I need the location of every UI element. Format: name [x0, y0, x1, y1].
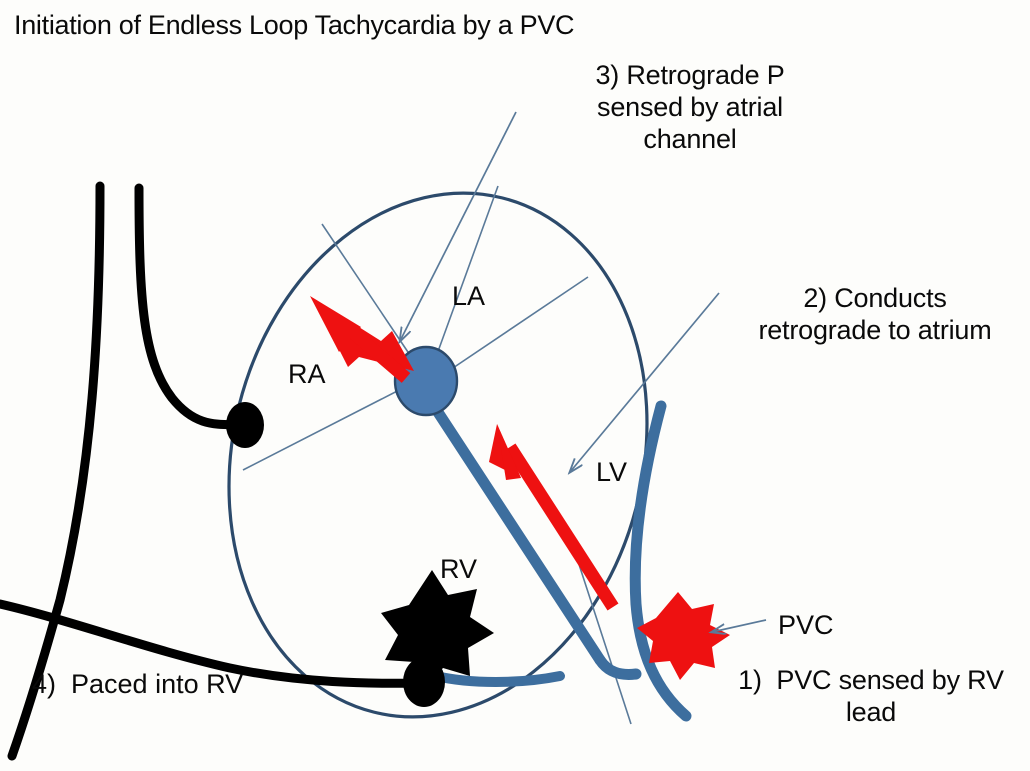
pvc-label: PVC — [778, 610, 834, 642]
paced-beat-star — [381, 570, 494, 689]
atrial-lead-electrode — [226, 402, 264, 448]
callout-conducts-retrograde: 2) Conducts retrograde to atrium — [722, 283, 1028, 347]
chamber-label-lv: LV — [596, 457, 627, 489]
page-title: Initiation of Endless Loop Tachycardia b… — [14, 10, 574, 42]
chamber-label-rv: RV — [440, 554, 477, 586]
chamber-label-la: LA — [452, 281, 485, 313]
leader-line-pvc — [712, 620, 766, 632]
leader-line-callout-2 — [570, 293, 719, 472]
callout-paced-into-rv: 4) Paced into RV — [32, 669, 243, 701]
diagram-canvas: Initiation of Endless Loop Tachycardia b… — [0, 0, 1030, 771]
heart-conduction-diagram — [0, 0, 1030, 771]
callout-pvc-sensed: 1) PVC sensed by RV lead — [716, 665, 1026, 729]
callout-retrograde-p-sensed: 3) Retrograde P sensed by atrial channel — [540, 60, 840, 156]
chamber-label-ra: RA — [288, 359, 326, 391]
